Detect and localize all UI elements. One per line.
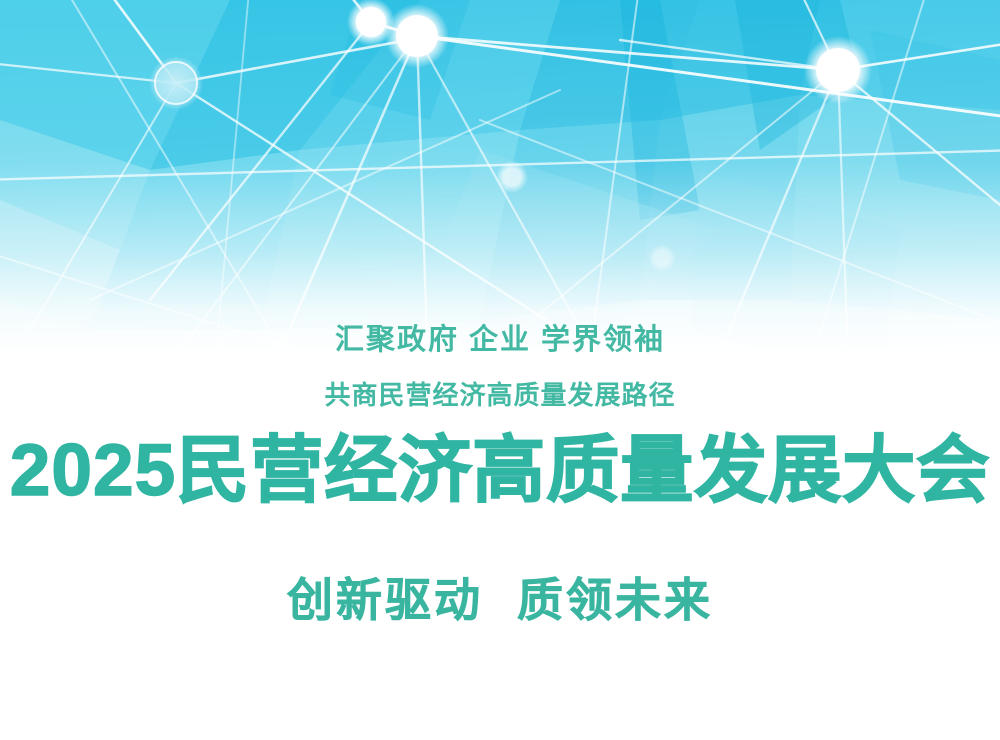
subtitle-line-2: 共商民营经济高质量发展路径	[0, 379, 1000, 411]
main-title: 2025民营经济高质量发展大会	[0, 428, 1000, 514]
headline-text-block: 汇聚政府 企业 学界领袖 共商民营经济高质量发展路径 2025民营经济高质量发展…	[0, 0, 1000, 740]
poster-canvas: 汇聚政府 企业 学界领袖 共商民营经济高质量发展路径 2025民营经济高质量发展…	[0, 0, 1000, 740]
slogan-part-1: 创新驱动	[287, 574, 483, 626]
subtitle-line-1: 汇聚政府 企业 学界领袖	[0, 322, 1000, 358]
slogan: 创新驱动质领未来	[0, 570, 1000, 630]
slogan-part-2: 质领未来	[517, 574, 713, 626]
